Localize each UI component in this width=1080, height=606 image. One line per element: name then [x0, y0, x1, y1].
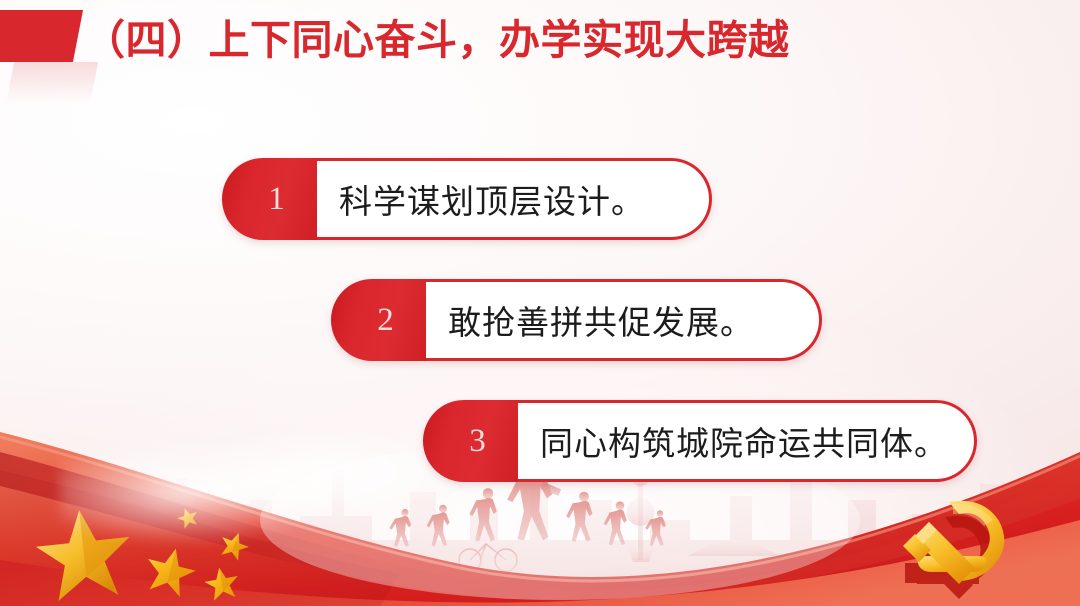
list-item-label: 同心构筑城院命运共同体。: [518, 400, 977, 482]
list-item-number: 3: [423, 400, 518, 482]
page-title: （四）上下同心奋斗，办学实现大跨越: [84, 7, 790, 65]
list-item[interactable]: 2 敢抢善拼共促发展。: [331, 279, 822, 361]
list-item[interactable]: 3 同心构筑城院命运共同体。: [423, 400, 917, 482]
list-item-label: 科学谋划顶层设计。: [317, 158, 712, 240]
list-item-label: 敢抢善拼共促发展。: [426, 279, 822, 361]
list-item-number: 1: [222, 158, 317, 240]
slide-canvas: （四）上下同心奋斗，办学实现大跨越 1 科学谋划顶层设计。 2 敢抢善拼共促发展…: [0, 0, 1080, 606]
list-item-number: 2: [331, 279, 426, 361]
list-item[interactable]: 1 科学谋划顶层设计。: [222, 158, 712, 240]
header-accent-bar-shadow: [6, 62, 98, 104]
header-accent-bar: [0, 10, 83, 62]
